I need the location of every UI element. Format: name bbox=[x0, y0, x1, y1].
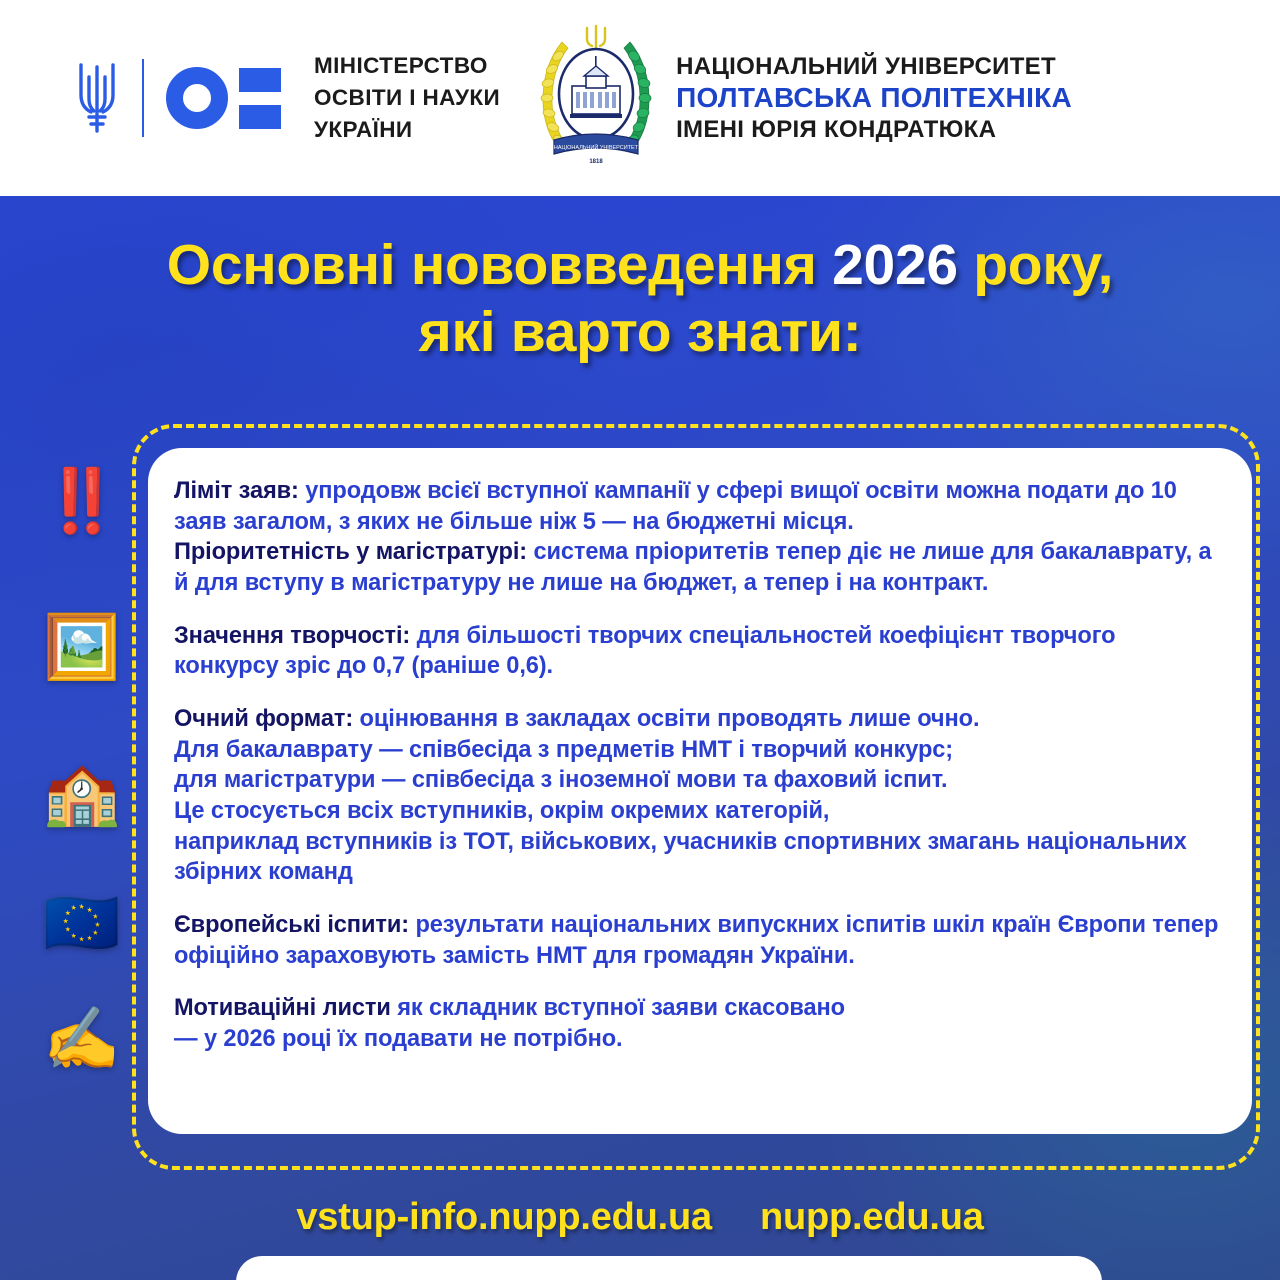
paragraph-motivation-letters: Мотиваційні листи як складник вступної з… bbox=[174, 993, 1226, 1054]
content-block-motivation-letters: Мотиваційні листи як складник вступної з… bbox=[174, 993, 1226, 1054]
footer-links: vstup-info.nupp.edu.uanupp.edu.ua bbox=[0, 1196, 1280, 1239]
double-exclamation-icon: ‼️ bbox=[43, 466, 120, 538]
content-card: Ліміт заяв: упродовж всієї вступної камп… bbox=[148, 448, 1252, 1134]
page-title: Основні нововведення 2026 року, які варт… bbox=[0, 232, 1280, 367]
university-name-line2: ПОЛТАВСЬКА ПОЛІТЕХНІКА bbox=[676, 81, 1072, 115]
university-logo: НАЦІОНАЛЬНИЙ УНІВЕРСИТЕТ ПОЛТАВСЬКА ПОЛІ… bbox=[532, 22, 1072, 174]
poster-root: МІНІСТЕРСТВО ОСВІТИ І НАУКИ УКРАЇНИ bbox=[0, 0, 1280, 1280]
framed-picture-icon: 🖼️ bbox=[43, 612, 120, 684]
ukraine-trident-icon bbox=[74, 57, 120, 139]
link-nupp[interactable]: nupp.edu.ua bbox=[760, 1196, 984, 1239]
side-icon-column: ‼️ 🖼️ 🏫 🇪🇺 ✍️ bbox=[30, 466, 134, 1076]
ministry-logo: МІНІСТЕРСТВО ОСВІТИ І НАУКИ УКРАЇНИ bbox=[74, 50, 500, 146]
svg-text:1818: 1818 bbox=[589, 159, 603, 165]
logo-divider bbox=[142, 59, 144, 137]
ministry-name: МІНІСТЕРСТВО ОСВІТИ І НАУКИ УКРАЇНИ bbox=[314, 50, 500, 146]
label-creativity: Значення творчості: bbox=[174, 623, 410, 649]
european-union-flag-icon: 🇪🇺 bbox=[43, 888, 120, 960]
writing-hand-icon: ✍️ bbox=[43, 1004, 120, 1076]
content-block-onsite-format: Очний формат: оцінювання в закладах осві… bbox=[174, 704, 1226, 888]
school-icon: 🏫 bbox=[43, 758, 120, 830]
body-onsite-format: оцінювання в закладах освіти проводять л… bbox=[174, 706, 1187, 885]
paragraph-creativity: Значення творчості: для більшості творчи… bbox=[174, 621, 1226, 682]
bottom-white-panel bbox=[236, 1256, 1102, 1280]
title-line2: які варто знати: bbox=[419, 300, 862, 364]
label-european-exams: Європейські іспити: bbox=[174, 912, 409, 938]
paragraph-onsite-format: Очний формат: оцінювання в закладах осві… bbox=[174, 704, 1226, 888]
paragraph-european-exams: Європейські іспити: результати національ… bbox=[174, 910, 1226, 971]
body-limit: упродовж всієї вступної кампанії у сфері… bbox=[174, 478, 1177, 535]
content-block-limit: Ліміт заяв: упродовж всієї вступної камп… bbox=[174, 476, 1226, 599]
label-limit: Ліміт заяв: bbox=[174, 478, 299, 504]
svg-text:ПОЛТАВСЬКА ПОЛІТЕХНІКА: ПОЛТАВСЬКА ПОЛІТЕХНІКА bbox=[573, 152, 620, 156]
nupp-coat-of-arms-icon: НАЦІОНАЛЬНИЙ УНІВЕРСИТЕТ ПОЛТАВСЬКА ПОЛІ… bbox=[532, 22, 660, 174]
label-motivation-letters: Мотиваційні листи bbox=[174, 995, 391, 1021]
svg-text:НАЦІОНАЛЬНИЙ УНІВЕРСИТЕТ: НАЦІОНАЛЬНИЙ УНІВЕРСИТЕТ bbox=[554, 143, 639, 151]
content-block-european-exams: Європейські іспити: результати національ… bbox=[174, 910, 1226, 971]
university-name-line1: НАЦІОНАЛЬНИЙ УНІВЕРСИТЕТ bbox=[676, 52, 1072, 81]
link-vstup-info[interactable]: vstup-info.nupp.edu.ua bbox=[296, 1196, 712, 1239]
title-part2: року, bbox=[958, 233, 1113, 297]
content-block-creativity: Значення творчості: для більшості творчи… bbox=[174, 621, 1226, 682]
label-onsite-format: Очний формат: bbox=[174, 706, 353, 732]
title-year: 2026 bbox=[832, 233, 958, 297]
university-name-line3: ІМЕНІ ЮРІЯ КОНДРАТЮКА bbox=[676, 115, 1072, 144]
paragraph-limit: Ліміт заяв: упродовж всієї вступної камп… bbox=[174, 476, 1226, 537]
paragraph-priority: Пріоритетність у магістратурі: система п… bbox=[174, 537, 1226, 598]
title-part1: Основні нововведення bbox=[167, 233, 832, 297]
label-priority: Пріоритетність у магістратурі: bbox=[174, 539, 527, 565]
mon-oe-mark-icon bbox=[166, 67, 281, 129]
header-band: МІНІСТЕРСТВО ОСВІТИ І НАУКИ УКРАЇНИ bbox=[0, 0, 1280, 196]
university-name: НАЦІОНАЛЬНИЙ УНІВЕРСИТЕТ ПОЛТАВСЬКА ПОЛІ… bbox=[676, 52, 1072, 145]
